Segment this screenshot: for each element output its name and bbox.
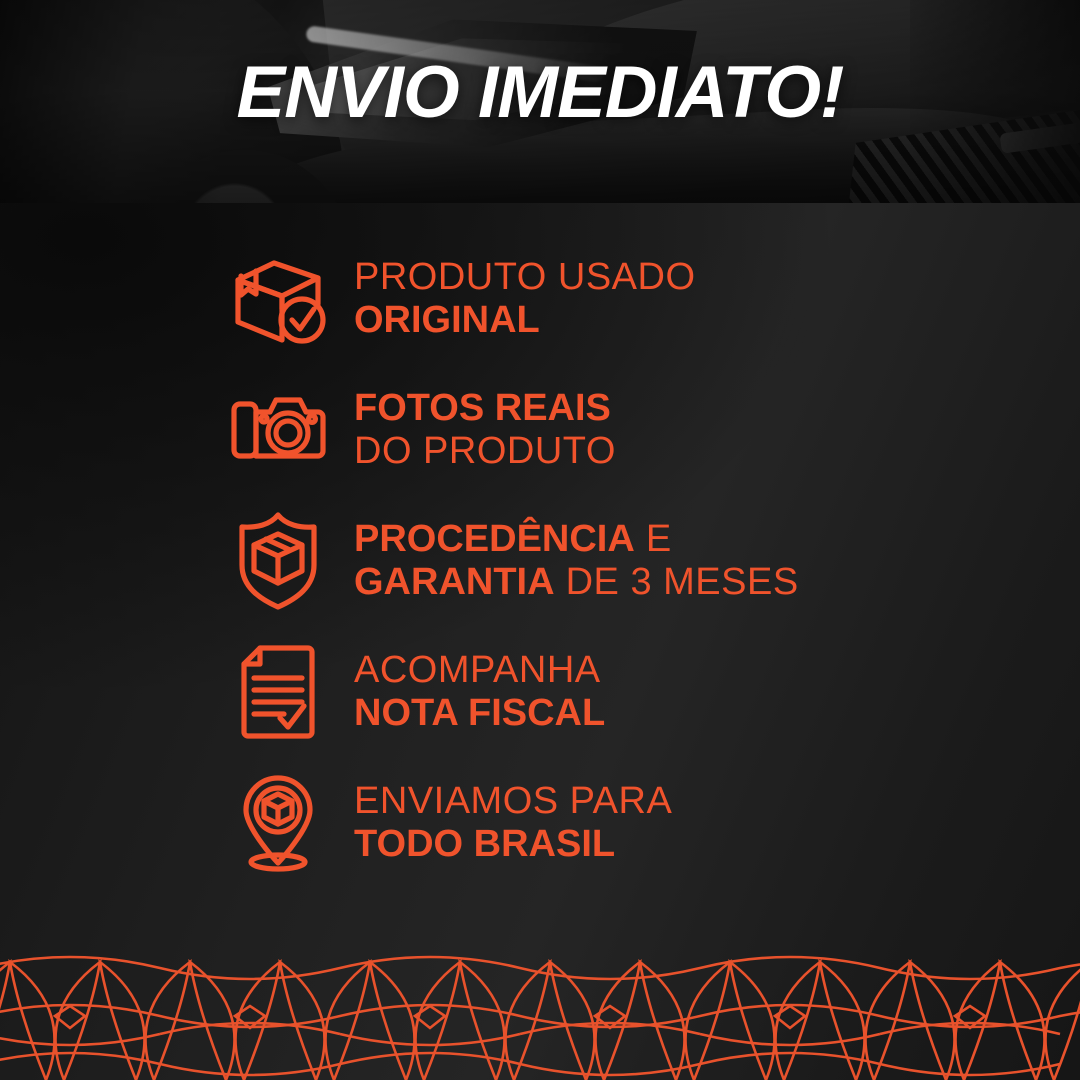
feature-item-todo-brasil: ENVIAMOS PARA TODO BRASIL bbox=[222, 771, 982, 875]
feature-text: PROCEDÊNCIA E GARANTIA DE 3 MESES bbox=[334, 518, 799, 605]
footer-ornament bbox=[0, 940, 1080, 1080]
shield-box-icon bbox=[222, 509, 334, 613]
feature-text: ENVIAMOS PARA TODO BRASIL bbox=[334, 780, 672, 867]
feature-list: PRODUTO USADO ORIGINAL FOTOS REAIS DO PR… bbox=[222, 247, 982, 875]
feature-line-2: TODO BRASIL bbox=[354, 823, 672, 866]
feature-text: ACOMPANHA NOTA FISCAL bbox=[334, 649, 605, 736]
feature-item-fotos-reais: FOTOS REAIS DO PRODUTO bbox=[222, 378, 982, 482]
feature-line-1: FOTOS REAIS bbox=[354, 387, 616, 430]
map-pin-box-icon bbox=[222, 771, 334, 875]
feature-line-1: PRODUTO USADO bbox=[354, 256, 696, 299]
invoice-check-icon bbox=[222, 640, 334, 744]
feature-item-procedencia-garantia: PROCEDÊNCIA E GARANTIA DE 3 MESES bbox=[222, 509, 982, 613]
feature-line-1: PROCEDÊNCIA E bbox=[354, 518, 799, 561]
hero-banner: ENVIO IMEDIATO! bbox=[0, 0, 1080, 203]
feature-line-2: DO PRODUTO bbox=[354, 430, 616, 473]
feature-line-1: ACOMPANHA bbox=[354, 649, 605, 692]
feature-text: PRODUTO USADO ORIGINAL bbox=[334, 256, 696, 343]
feature-line-1: ENVIAMOS PARA bbox=[354, 780, 672, 823]
feature-text: FOTOS REAIS DO PRODUTO bbox=[334, 387, 616, 474]
box-check-icon bbox=[222, 247, 334, 351]
feature-line-1-bold: PROCEDÊNCIA bbox=[354, 518, 635, 560]
feature-line-2: ORIGINAL bbox=[354, 299, 696, 342]
feature-line-1-rest: E bbox=[635, 518, 672, 560]
page-title: ENVIO IMEDIATO! bbox=[0, 56, 1080, 129]
promo-poster: ENVIO IMEDIATO! PRODUTO USADO ORIGINAL bbox=[0, 0, 1080, 1080]
feature-line-2: GARANTIA DE 3 MESES bbox=[354, 561, 799, 604]
feature-line-2-rest: DE 3 MESES bbox=[555, 561, 799, 603]
feature-line-2: NOTA FISCAL bbox=[354, 692, 605, 735]
camera-icon bbox=[222, 378, 334, 482]
feature-line-2-bold: GARANTIA bbox=[354, 561, 555, 603]
feature-item-produto-usado: PRODUTO USADO ORIGINAL bbox=[222, 247, 982, 351]
feature-item-nota-fiscal: ACOMPANHA NOTA FISCAL bbox=[222, 640, 982, 744]
